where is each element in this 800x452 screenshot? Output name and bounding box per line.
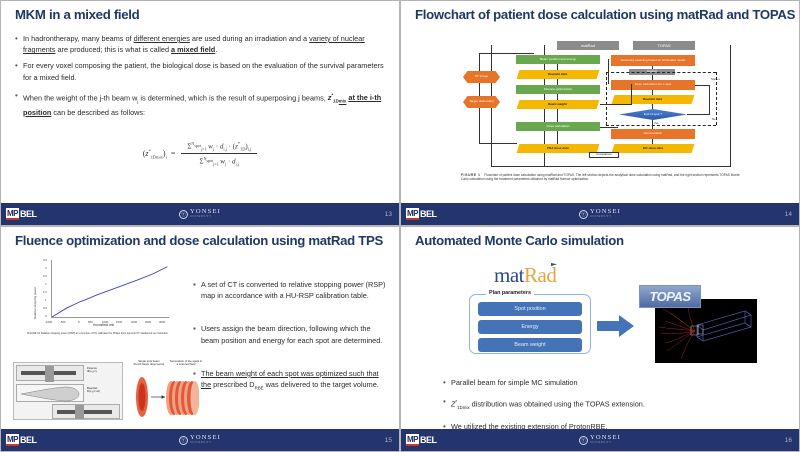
- list-item: • In hadrontherapy, many beams of differ…: [15, 33, 385, 55]
- panel-a-plot: [16, 365, 84, 381]
- flow-dashed-top: [606, 72, 716, 73]
- flow-label-no: No: [712, 117, 716, 121]
- bullet-text: The beam weight of each spot was optimiz…: [201, 368, 389, 394]
- flow-node-pba-dose-data: PBA dose data: [517, 144, 600, 153]
- page-title: Automated Monte Carlo simulation: [415, 233, 789, 248]
- bullet-dot-icon: •: [443, 396, 451, 413]
- slide-mkm-mixed-field[interactable]: MKM in a mixed field • In hadrontherapy,…: [0, 0, 400, 226]
- flow-node-geometry-modeling: Geometry modeling based on Schneider mod…: [611, 55, 695, 66]
- equation-fraction: ΣNspotj=1 wj · di,j · (z*1D)i,j ΣNspotj=…: [181, 141, 257, 166]
- flow-node-ct-image: CT image: [463, 71, 500, 83]
- yonsei-subtitle: UNIVERSITY: [190, 442, 221, 445]
- chart-ytick: 3: [45, 266, 47, 270]
- yonsei-logo-text: YONSEI UNIVERSITY: [590, 435, 621, 444]
- equation-lhs: (z*1Dmix)i =: [143, 149, 178, 158]
- plan-parameters-legend: Plan parameters: [486, 290, 534, 296]
- slide-13-body: MKM in a mixed field • In hadrontherapy,…: [1, 1, 399, 203]
- flow-node-beam-position-energy: Beam position and energy: [516, 55, 600, 64]
- yonsei-subtitle: UNIVERSITY: [590, 216, 621, 219]
- figure-caption: FIGURE 1 Flowchart of patient dose calcu…: [461, 173, 746, 182]
- mpbel-logo-bel: BEL: [420, 435, 437, 446]
- bullet-text: A set of CT is converted to relative sto…: [201, 279, 389, 301]
- right-arrow-icon: [597, 315, 635, 337]
- topas-logo: TOPAS: [639, 285, 701, 308]
- panel-label-fluence: FluenceΦ(x,y,z): [87, 367, 97, 374]
- slide-flowchart-dose-calculation[interactable]: Flowchart of patient dose calculation us…: [400, 0, 800, 226]
- bullet-dot-icon: •: [443, 377, 451, 388]
- beam-dose-panel: FluenceΦ(x,y,z) BeamletD(x,y,z·wi): [13, 362, 123, 420]
- chart-xtick: 1500: [116, 320, 122, 324]
- matrad-flag-icon: [549, 262, 559, 272]
- flow-line: [608, 59, 609, 84]
- chart-ylabel: Relative stopping power: [33, 287, 37, 319]
- flow-dashed-left: [606, 72, 607, 125]
- mpbel-logo-mp: MP: [406, 208, 419, 220]
- flow-line: [557, 79, 558, 85]
- slide-15-body: Fluence optimization and dose calculatio…: [1, 227, 399, 429]
- bullet-text: When the weight of the j-th beam wj is d…: [23, 90, 385, 118]
- bullet-list: ▪ A set of CT is converted to relative s…: [193, 279, 389, 399]
- flow-node-fluence-optimization: Fluence optimization: [516, 85, 600, 94]
- mpbel-logo-mp: MP: [6, 434, 19, 446]
- mpbel-logo: MP BEL: [406, 434, 437, 446]
- equation-numerator: ΣNspotj=1 wj · di,j · (z*1D)i,j: [181, 141, 257, 154]
- panel-c-plot: [52, 404, 120, 419]
- chart-caption: FIGURE S1 Relative stopping power (RSP) …: [27, 332, 177, 335]
- flow-line: [479, 53, 534, 54]
- list-item: ▪ Users assign the beam direction, follo…: [193, 323, 389, 345]
- flow-node-beamlet-data-left: Beamlet data: [517, 70, 600, 79]
- flow-line: [652, 90, 653, 95]
- chart-ytick: 0: [45, 314, 47, 318]
- page-number: 13: [385, 211, 392, 218]
- flow-node-label: Beam weight: [548, 103, 567, 107]
- flow-node-beam-weight: Beam weight: [517, 100, 600, 109]
- topas-track-render: [655, 299, 757, 363]
- chart-ytick: 1: [45, 298, 47, 302]
- slide-14-body: Flowchart of patient dose calculation us…: [401, 1, 799, 203]
- yonsei-logo-text: YONSEI UNIVERSITY: [190, 209, 221, 218]
- bullet-dot-icon: •: [15, 33, 23, 55]
- mpbel-logo: MP BEL: [6, 434, 37, 446]
- chart-xtick: 2000: [131, 320, 137, 324]
- chart-ytick: 2: [45, 282, 47, 286]
- equation-z1dmix: (z*1Dmix)i = ΣNspotj=1 wj · di,j · (z*1D…: [1, 141, 399, 166]
- yonsei-logo: Ⓨ YONSEI UNIVERSITY: [579, 435, 621, 444]
- flow-line: [652, 75, 653, 80]
- yonsei-seal-icon: Ⓨ: [179, 436, 188, 445]
- figure-label-single-spot: Single spot beamPencil beam dose kernel: [131, 360, 167, 367]
- mpbel-logo-mp: MP: [6, 208, 19, 220]
- bullet-text: Parallel beam for simple MC simulation: [451, 377, 578, 388]
- list-item: ▪ A set of CT is converted to relative s…: [193, 279, 389, 301]
- bullet-list: • In hadrontherapy, many beams of differ…: [15, 33, 385, 123]
- bullet-text: For every voxel composing the patient, t…: [23, 60, 385, 82]
- slide-16-body: Automated Monte Carlo simulation matRad …: [401, 227, 799, 429]
- chart-ytick: 3.5: [43, 258, 47, 262]
- slide-footer: MP BEL Ⓨ YONSEI UNIVERSITY 15: [1, 429, 399, 451]
- chart-ytick: 1.5: [43, 290, 47, 294]
- bullet-dot-icon: •: [15, 60, 23, 82]
- flow-line: [631, 84, 632, 104]
- page-number: 15: [385, 437, 392, 444]
- yonsei-subtitle: UNIVERSITY: [590, 442, 621, 445]
- bullet-dot-icon: •: [15, 90, 23, 118]
- spot-summation-figure: Single spot beamPencil beam dose kernel …: [129, 360, 199, 422]
- yonsei-logo-text: YONSEI UNIVERSITY: [190, 435, 221, 444]
- page-number: 16: [785, 437, 792, 444]
- flow-line: [652, 104, 653, 109]
- list-item: • For every voxel composing the patient,…: [15, 60, 385, 82]
- slide-footer: MP BEL Ⓨ YONSEI UNIVERSITY 14: [401, 203, 799, 225]
- matrad-logo-mat: mat: [494, 263, 524, 287]
- flow-dashed-bottom: [606, 125, 716, 126]
- matrad-logo: matRad: [494, 263, 556, 288]
- list-item: ▪ The beam weight of each spot was optim…: [193, 368, 389, 394]
- slide-footer: MP BEL Ⓨ YONSEI UNIVERSITY 13: [1, 203, 399, 225]
- chart-plot-area: 3.5 3 2.5 2 1.5 1 0.5 0 -1000 -500 0 500…: [51, 260, 169, 318]
- chart-series-line: [52, 260, 170, 318]
- equation-denominator: ΣNspotj=1 wj · di,j: [181, 154, 257, 167]
- bullet-text: Z*1Dmix distribution was obtained using …: [451, 396, 645, 413]
- yonsei-logo: Ⓨ YONSEI UNIVERSITY: [579, 209, 621, 218]
- list-item: • Z*1Dmix distribution was obtained usin…: [443, 396, 787, 413]
- flow-line: [557, 131, 558, 144]
- figure-caption-label: FIGURE 1: [461, 173, 481, 177]
- bullet-text: In hadrontherapy, many beams of differen…: [23, 33, 385, 55]
- flow-node-dose-calculation: Dose calculation: [516, 122, 600, 131]
- flow-line: [557, 109, 558, 122]
- flow-line: [479, 143, 517, 144]
- flow-node-beamlet-data-right: Beamlet data: [612, 95, 695, 104]
- mpbel-logo-bel: BEL: [20, 435, 37, 446]
- list-item: • When the weight of the j-th beam wj is…: [15, 90, 385, 118]
- plan-param-energy[interactable]: Energy: [478, 320, 582, 334]
- topas-simulation-image: [655, 299, 757, 363]
- chart-ytick: 2.5: [43, 274, 47, 278]
- yonsei-subtitle: UNIVERSITY: [190, 216, 221, 219]
- mpbel-logo: MP BEL: [6, 208, 37, 220]
- panel-label-beamlet: BeamletD(x,y,z·wi): [87, 387, 100, 394]
- plan-param-beam-weight[interactable]: Beam weight: [478, 338, 582, 352]
- dose-spot-illustration: [129, 372, 199, 422]
- chart-xtick: -500: [60, 320, 66, 324]
- flow-line: [600, 127, 618, 128]
- page-number: 14: [785, 211, 792, 218]
- chart-xtick: -1000: [45, 320, 52, 324]
- flow-label-yes: Yes: [654, 121, 659, 125]
- flow-line: [695, 85, 710, 86]
- flow-node-label: Beamlet data: [548, 73, 567, 77]
- slide-fluence-optimization[interactable]: Fluence optimization and dose calculatio…: [0, 226, 400, 452]
- flow-node-label: MC dose data: [643, 147, 663, 151]
- flow-line: [652, 66, 653, 69]
- page-title: Flowchart of patient dose calculation us…: [415, 7, 789, 22]
- flow-node-dose-calculation-xspot: Dose calculation for x-spot: [611, 80, 695, 90]
- list-item: • Parallel beam for simple MC simulation: [443, 377, 787, 388]
- rsp-chart: Relative stopping power 3.5 3 2.5 2 1.5 …: [31, 257, 176, 332]
- slide-footer: MP BEL Ⓨ YONSEI UNIVERSITY 16: [401, 429, 799, 451]
- flow-node-label: Beamlet data: [643, 98, 662, 102]
- flow-node-comparison: Comparison: [589, 152, 619, 158]
- flow-header-topas: TOPAS: [633, 41, 695, 50]
- plan-param-spot-position[interactable]: Spot position: [478, 302, 582, 316]
- yonsei-logo: Ⓨ YONSEI UNIVERSITY: [179, 209, 221, 218]
- chart-xtick: 0: [78, 320, 80, 324]
- flow-header-matrad: matRad: [557, 41, 619, 50]
- panel-b-plot: [16, 384, 84, 402]
- flow-line: [557, 94, 558, 100]
- flow-node-accumulation: Accumulation: [611, 129, 695, 139]
- page-title: Fluence optimization and dose calculatio…: [15, 233, 389, 248]
- flow-node-target-delineation: Target delineation: [463, 96, 500, 108]
- flow-line: [730, 45, 731, 167]
- flow-line: [557, 64, 558, 70]
- yonsei-logo: Ⓨ YONSEI UNIVERSITY: [179, 435, 221, 444]
- flow-node-mc-dose-data: MC dose data: [612, 144, 695, 153]
- mpbel-logo-bel: BEL: [420, 209, 437, 220]
- mpbel-logo-mp: MP: [406, 434, 419, 446]
- chart-xtick: 3000: [159, 320, 165, 324]
- bullet-dot-icon: ▪: [193, 368, 201, 394]
- mpbel-logo-bel: BEL: [20, 209, 37, 220]
- flow-node-end-of-spot: End of spot ?: [619, 109, 687, 120]
- flow-line: [652, 139, 653, 144]
- flow-line: [687, 114, 710, 115]
- chart-xlabel: Hounsfield unit: [93, 323, 114, 327]
- flow-label-spot-increment: Spot++: [711, 77, 720, 81]
- yonsei-seal-icon: Ⓨ: [579, 436, 588, 445]
- chart-xtick: 2500: [145, 320, 151, 324]
- chart-xtick: 500: [88, 320, 93, 324]
- flow-line: [491, 166, 731, 167]
- mpbel-logo: MP BEL: [406, 208, 437, 220]
- figure-caption-text: Flowchart of patient dose calculation us…: [461, 173, 740, 181]
- slide-automated-monte-carlo[interactable]: Automated Monte Carlo simulation matRad …: [400, 226, 800, 452]
- page-title: MKM in a mixed field: [15, 7, 389, 22]
- yonsei-logo-text: YONSEI UNIVERSITY: [590, 209, 621, 218]
- flow-node-label: PBA dose data: [547, 147, 569, 151]
- slide-grid: MKM in a mixed field • In hadrontherapy,…: [0, 0, 800, 452]
- flow-line: [709, 85, 710, 115]
- bullet-dot-icon: ▪: [193, 279, 201, 301]
- bullet-text: Users assign the beam direction, followi…: [201, 323, 389, 345]
- chart-ytick: 0.5: [43, 306, 47, 310]
- bullet-dot-icon: ▪: [193, 323, 201, 345]
- yonsei-seal-icon: Ⓨ: [179, 210, 188, 219]
- flowchart: matRad TOPAS CT image Target delineation…: [461, 39, 746, 169]
- flow-line: [600, 104, 632, 105]
- yonsei-seal-icon: Ⓨ: [579, 210, 588, 219]
